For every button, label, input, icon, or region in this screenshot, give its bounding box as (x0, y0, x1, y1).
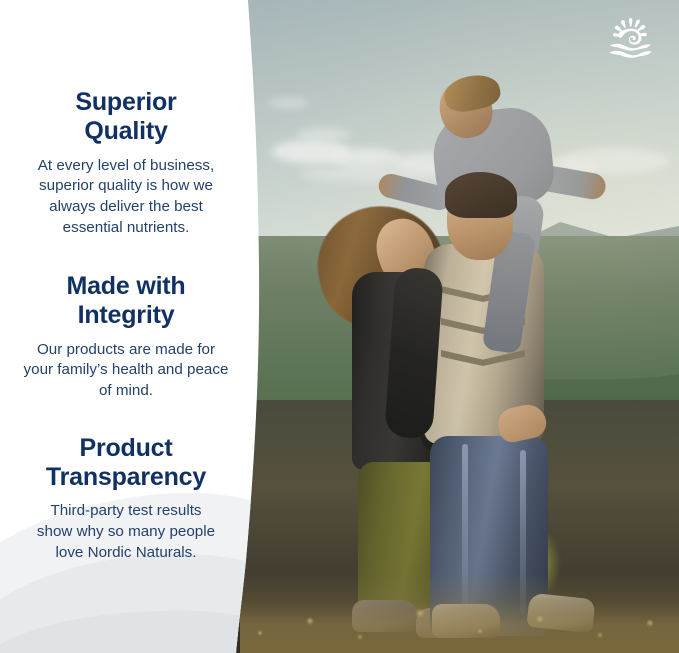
heading-line: Superior (14, 88, 238, 117)
feature-block-superior-quality: Superior Quality At every level of busin… (0, 88, 252, 238)
brand-banner: Superior Quality At every level of busin… (0, 0, 679, 653)
heading-line: Quality (14, 117, 238, 146)
sun-waves-icon (605, 16, 657, 66)
feature-block-made-with-integrity: Made with Integrity Our products are mad… (0, 272, 252, 402)
nordic-naturals-logo (605, 16, 657, 66)
feature-heading: Superior Quality (0, 88, 252, 147)
feature-body: Third-party test results show why so man… (0, 501, 252, 563)
feature-body: Our products are made for your family’s … (0, 340, 252, 402)
feature-heading: Made with Integrity (0, 272, 252, 331)
brush-specks (240, 573, 679, 653)
feature-body: At every level of business, superior qua… (0, 156, 252, 239)
heading-line: Product (14, 434, 238, 463)
feature-block-product-transparency: Product Transparency Third-party test re… (0, 434, 252, 564)
man-hair (445, 172, 517, 218)
feature-heading: Product Transparency (0, 434, 252, 493)
panel-content: Superior Quality At every level of busin… (0, 0, 252, 653)
heading-line: Integrity (14, 301, 238, 330)
heading-line: Transparency (14, 463, 238, 492)
heading-line: Made with (14, 272, 238, 301)
